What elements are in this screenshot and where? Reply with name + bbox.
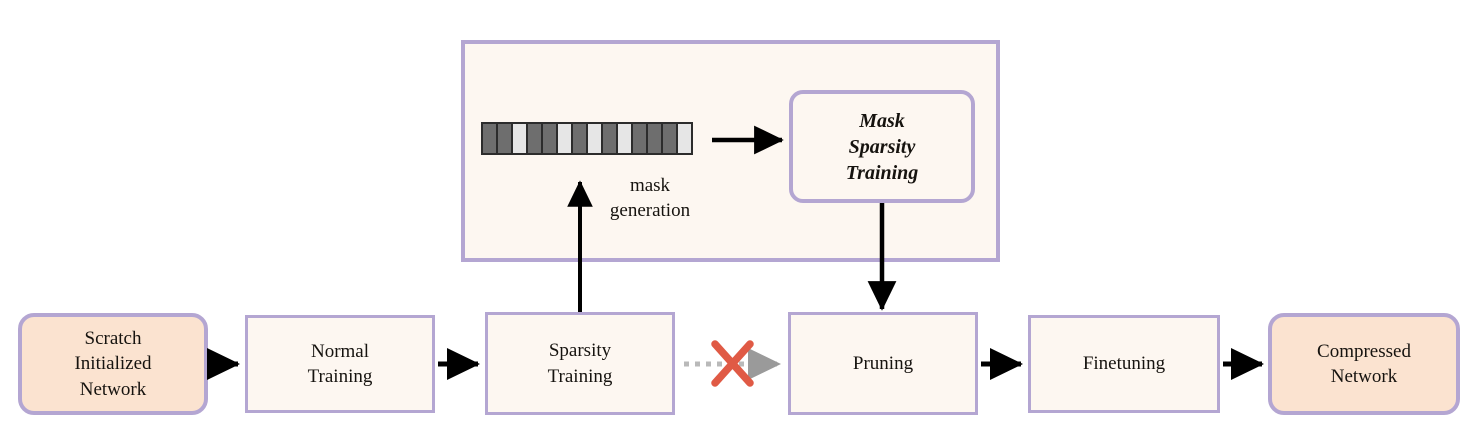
- pipeline-label-finetuning: Finetuning: [1083, 351, 1165, 376]
- mask-cell: [528, 124, 541, 153]
- mask-cell: [678, 124, 691, 153]
- mask-cell: [573, 124, 586, 153]
- mask-cell: [633, 124, 646, 153]
- mask-cell: [618, 124, 631, 153]
- mask-cell: [603, 124, 616, 153]
- pipeline-label-pruning: Pruning: [853, 351, 913, 376]
- pipeline-label-sparsity-training: Sparsity Training: [548, 338, 613, 388]
- mask-cell: [648, 124, 661, 153]
- mask-cell: [513, 124, 526, 153]
- pipeline-box-pruning[interactable]: Pruning: [788, 312, 978, 415]
- pipeline-box-scratch-initialized-network[interactable]: Scratch Initialized Network: [18, 313, 208, 415]
- mask-generation-label: mask generation: [585, 174, 715, 223]
- mask-cell: [663, 124, 676, 153]
- pipeline-label-scratch-initialized-network: Scratch Initialized Network: [74, 326, 151, 401]
- mask-vector: [481, 122, 693, 155]
- mask-sparsity-training-label: Mask Sparsity Training: [846, 108, 919, 186]
- mask-cell: [483, 124, 496, 153]
- pipeline-label-normal-training: Normal Training: [308, 339, 373, 389]
- mask-cell: [498, 124, 511, 153]
- diagram-canvas: Mask Sparsity Training mask generation S…: [0, 0, 1478, 430]
- pipeline-label-compressed-network: Compressed Network: [1317, 339, 1411, 389]
- pipeline-box-sparsity-training[interactable]: Sparsity Training: [485, 312, 675, 415]
- mask-cell: [543, 124, 556, 153]
- pipeline-box-compressed-network[interactable]: Compressed Network: [1268, 313, 1460, 415]
- mask-sparsity-training-box[interactable]: Mask Sparsity Training: [789, 90, 975, 203]
- pipeline-box-normal-training[interactable]: Normal Training: [245, 315, 435, 413]
- pipeline-box-finetuning[interactable]: Finetuning: [1028, 315, 1220, 413]
- mask-cell: [558, 124, 571, 153]
- mask-cell: [588, 124, 601, 153]
- cross-icon: [715, 344, 750, 383]
